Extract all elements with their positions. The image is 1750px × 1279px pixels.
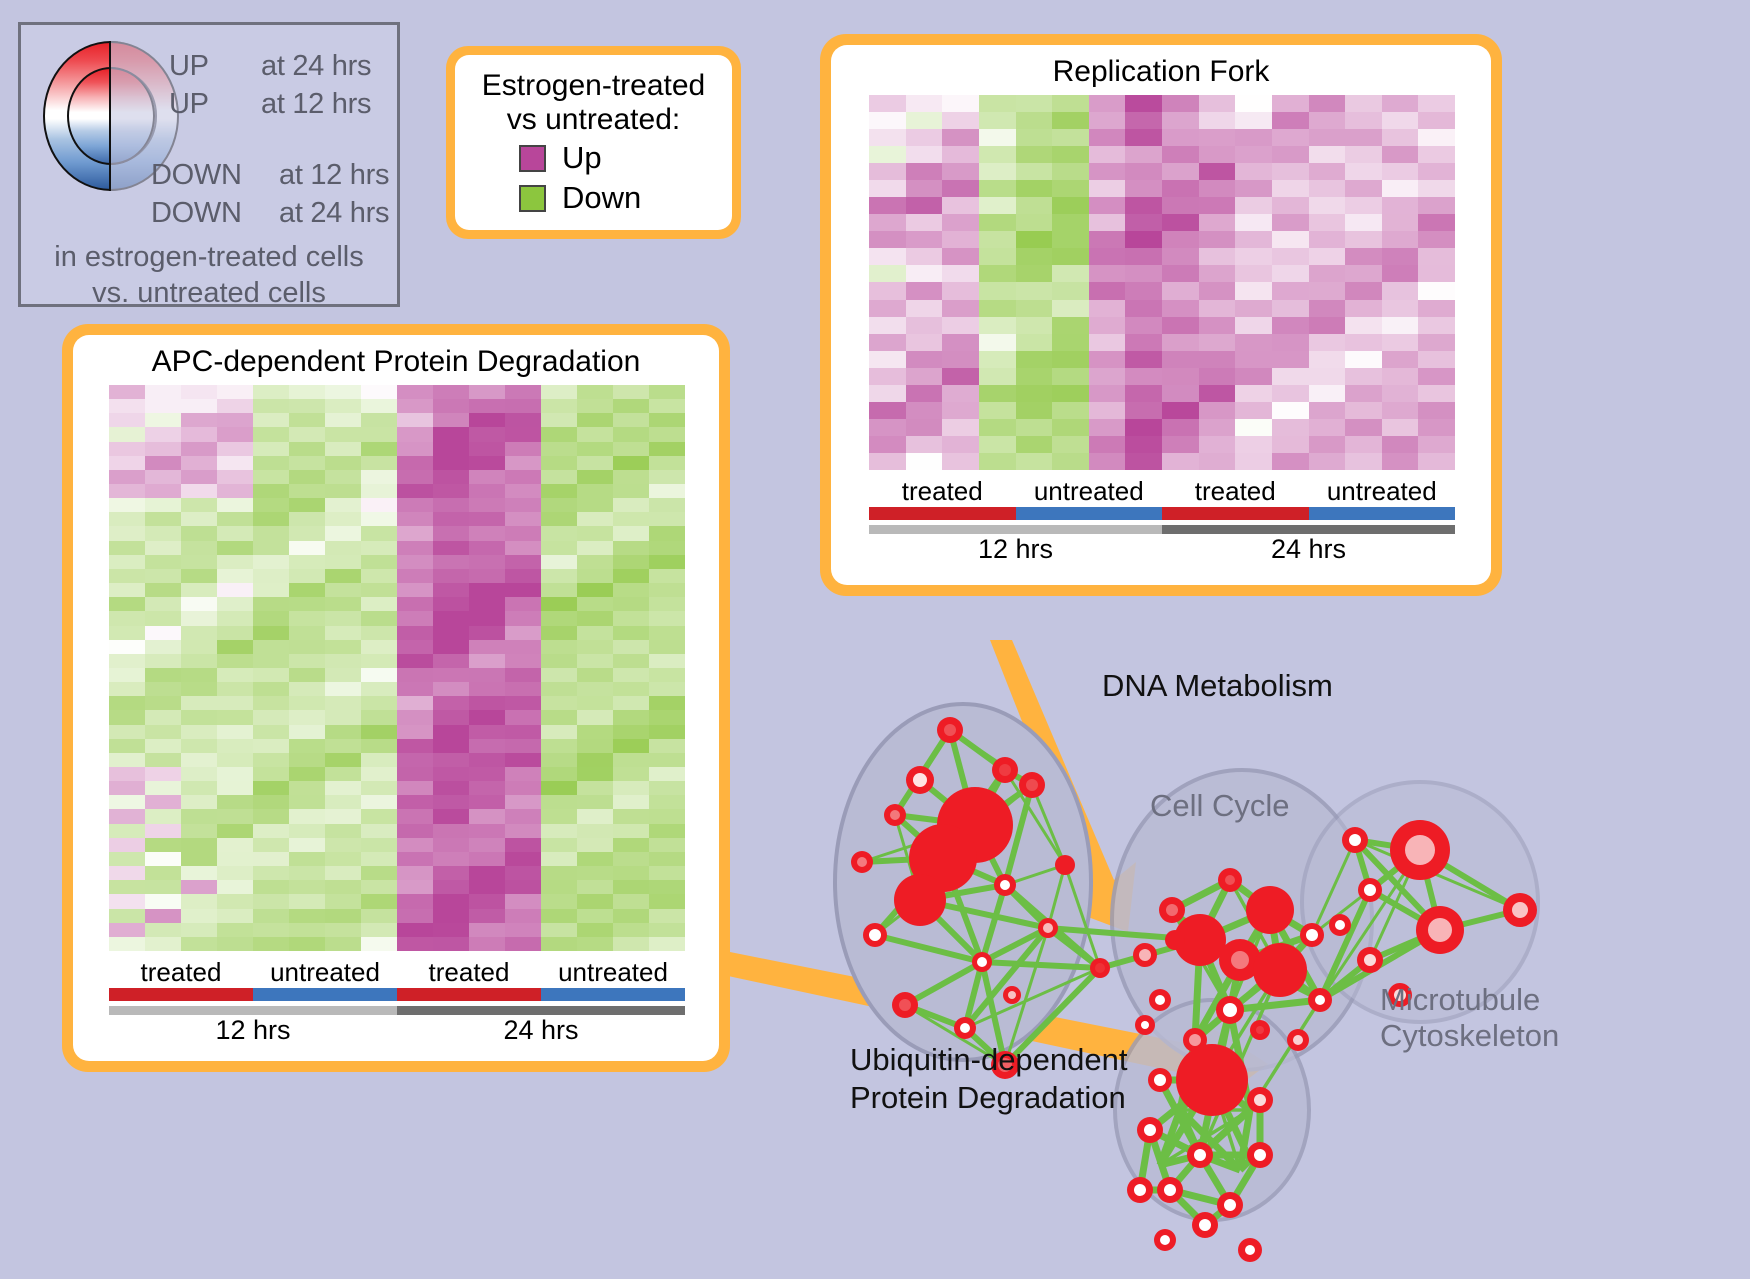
heatmap-cell xyxy=(217,399,253,413)
heatmap-cell xyxy=(906,248,943,265)
heatmap-cell xyxy=(577,937,613,951)
heatmap-cell xyxy=(649,399,685,413)
heatmap-cell xyxy=(325,852,361,866)
heatmap-cell xyxy=(433,809,469,823)
heatmap-cell xyxy=(577,781,613,795)
heatmap-cell xyxy=(325,937,361,951)
heatmap-cell xyxy=(433,555,469,569)
heatmap-cell xyxy=(253,512,289,526)
heatmap-cell xyxy=(1345,300,1382,317)
heatmap-cell xyxy=(109,795,145,809)
heatmap-cell xyxy=(1162,317,1199,334)
heatmap-cell xyxy=(109,753,145,767)
heatmap-cell xyxy=(505,781,541,795)
heatmap-cell xyxy=(253,824,289,838)
heatmap-cell xyxy=(109,824,145,838)
heatmap-cell xyxy=(1052,129,1089,146)
heatmap-cell xyxy=(253,526,289,540)
heatmap-cell xyxy=(253,866,289,880)
heatmap-cell xyxy=(397,937,433,951)
heatmap-cell xyxy=(1162,163,1199,180)
heatmap-cell xyxy=(1199,300,1236,317)
heatmap-cell xyxy=(505,413,541,427)
heatmap-cell xyxy=(145,385,181,399)
heatmap-cell xyxy=(869,197,906,214)
timepoint-color-bar xyxy=(109,1006,397,1015)
heatmap-cell xyxy=(253,541,289,555)
heatmap-cell xyxy=(1016,163,1053,180)
heatmap-cell xyxy=(1199,282,1236,299)
heatmap-cell xyxy=(613,824,649,838)
heatmap-cell xyxy=(942,180,979,197)
heatmap-cell xyxy=(541,541,577,555)
heatmap-cell xyxy=(217,795,253,809)
heatmap-cell xyxy=(1382,368,1419,385)
heatmap-cell xyxy=(469,937,505,951)
heatmap-cell xyxy=(469,880,505,894)
heatmap-cell xyxy=(253,809,289,823)
heatmap-cell xyxy=(397,809,433,823)
heatmap-cell xyxy=(361,526,397,540)
heatmap-cell xyxy=(1235,317,1272,334)
heatmap-cell xyxy=(613,668,649,682)
heatmap-cell xyxy=(649,498,685,512)
heatmap-cell xyxy=(613,654,649,668)
heatmap-cell xyxy=(942,317,979,334)
heatmap-cell xyxy=(1125,265,1162,282)
heatmap-cell xyxy=(1016,248,1053,265)
heatmap-cell xyxy=(541,725,577,739)
heatmap-cell xyxy=(1016,180,1053,197)
heatmap-cell xyxy=(613,456,649,470)
heatmap-cell xyxy=(217,484,253,498)
heatmap-cell xyxy=(1272,95,1309,112)
timepoint-color-bar xyxy=(869,525,1162,534)
heatmap-cell xyxy=(253,583,289,597)
heatmap-cell xyxy=(361,555,397,569)
heatmap-cell xyxy=(1052,368,1089,385)
heatmap-cell xyxy=(145,753,181,767)
heatmap-cell xyxy=(649,413,685,427)
apc-time-labels: 12 hrs24 hrs xyxy=(109,1015,685,1046)
heatmap-cell xyxy=(325,753,361,767)
heatmap-cell xyxy=(505,484,541,498)
heatmap-cell xyxy=(906,385,943,402)
heatmap-cell xyxy=(1235,385,1272,402)
heatmap-cell xyxy=(1089,351,1126,368)
heatmap-cell xyxy=(1016,317,1053,334)
heatmap-cell xyxy=(181,767,217,781)
heatmap-cell xyxy=(1309,282,1346,299)
heatmap-cell xyxy=(253,838,289,852)
heatmap-cell xyxy=(505,526,541,540)
heatmap-cell xyxy=(253,725,289,739)
heatmap-cell xyxy=(1235,180,1272,197)
heatmap-cell xyxy=(469,824,505,838)
condition-label: untreated xyxy=(1016,476,1163,507)
heatmap-cell xyxy=(289,555,325,569)
heatmap-cell xyxy=(325,385,361,399)
heatmap-cell xyxy=(1089,163,1126,180)
heatmap-cell xyxy=(1382,351,1419,368)
heatmap-cell xyxy=(1345,214,1382,231)
heatmap-cell xyxy=(469,385,505,399)
heatmap-cell xyxy=(181,413,217,427)
heatmap-cell xyxy=(1052,265,1089,282)
heatmap-cell xyxy=(613,739,649,753)
heatmap-cell xyxy=(289,767,325,781)
wheel-row-3-time: at 24 hrs xyxy=(279,197,389,230)
heatmap-cell xyxy=(289,512,325,526)
heatmap-cell xyxy=(1272,214,1309,231)
heatmap-cell xyxy=(649,385,685,399)
heatmap-cell xyxy=(145,909,181,923)
heatmap-cell xyxy=(433,442,469,456)
heatmap-cell xyxy=(469,640,505,654)
heatmap-cell xyxy=(181,442,217,456)
heatmap-cell xyxy=(1309,265,1346,282)
apc-condition-bar xyxy=(109,988,685,1001)
heatmap-cell xyxy=(1052,248,1089,265)
heatmap-cell xyxy=(649,753,685,767)
condition-label: untreated xyxy=(253,957,397,988)
heatmap-cell xyxy=(1272,265,1309,282)
heatmap-cell xyxy=(541,626,577,640)
heatmap-cell xyxy=(1089,231,1126,248)
heatmap-cell xyxy=(145,668,181,682)
heatmap-cell xyxy=(325,541,361,555)
heatmap-cell xyxy=(649,866,685,880)
heatmap-cell xyxy=(906,282,943,299)
heatmap-cell xyxy=(1052,402,1089,419)
heatmap-cell xyxy=(541,753,577,767)
heatmap-cell xyxy=(1382,282,1419,299)
heatmap-cell xyxy=(613,937,649,951)
heatmap-cell xyxy=(1382,317,1419,334)
heatmap-cell xyxy=(289,470,325,484)
heatmap-cell xyxy=(869,317,906,334)
heatmap-cell xyxy=(289,526,325,540)
heatmap-cell xyxy=(217,512,253,526)
timepoint-label: 12 hrs xyxy=(109,1015,397,1046)
heatmap-cell xyxy=(505,767,541,781)
heatmap-cell xyxy=(942,95,979,112)
heatmap-cell xyxy=(1272,248,1309,265)
heatmap-cell xyxy=(469,838,505,852)
heatmap-cell xyxy=(649,682,685,696)
heatmap-cell xyxy=(1199,95,1236,112)
heatmap-cell xyxy=(1382,300,1419,317)
heatmap-cell xyxy=(181,555,217,569)
heatmap-cell xyxy=(109,413,145,427)
heatmap-cell xyxy=(906,402,943,419)
heatmap-cell xyxy=(361,682,397,696)
heatmap-cell xyxy=(253,937,289,951)
heatmap-cell xyxy=(109,909,145,923)
heatmap-cell xyxy=(649,640,685,654)
heatmap-cell xyxy=(289,739,325,753)
heatmap-cell xyxy=(217,710,253,724)
heatmap-cell xyxy=(109,512,145,526)
heatmap-cell xyxy=(505,541,541,555)
heatmap-cell xyxy=(217,923,253,937)
heatmap-cell xyxy=(361,937,397,951)
heatmap-cell xyxy=(1089,197,1126,214)
heatmap-cell xyxy=(217,555,253,569)
heatmap-cell xyxy=(109,739,145,753)
heatmap-cell xyxy=(869,282,906,299)
heatmap-cell xyxy=(289,640,325,654)
heatmap-cell xyxy=(1345,112,1382,129)
heatmap-cell xyxy=(469,866,505,880)
heatmap-cell xyxy=(979,282,1016,299)
heatmap-cell xyxy=(577,498,613,512)
heatmap-cell xyxy=(1345,146,1382,163)
heatmap-cell xyxy=(979,351,1016,368)
replication-fork-time-labels: 12 hrs24 hrs xyxy=(869,534,1455,565)
heatmap-cell xyxy=(1162,436,1199,453)
heatmap-cell xyxy=(1272,300,1309,317)
heatmap-cell xyxy=(1125,248,1162,265)
heatmap-cell xyxy=(1125,436,1162,453)
heatmap-cell xyxy=(541,526,577,540)
heatmap-cell xyxy=(1016,112,1053,129)
heatmap-cell xyxy=(613,852,649,866)
heatmap-cell xyxy=(253,909,289,923)
heatmap-cell xyxy=(325,838,361,852)
heatmap-cell xyxy=(433,824,469,838)
heatmap-cell xyxy=(361,866,397,880)
heatmap-cell xyxy=(1309,317,1346,334)
heatmap-cell xyxy=(289,725,325,739)
heatmap-cell xyxy=(181,456,217,470)
expression-wheel-legend: UP at 24 hrs UP at 12 hrs DOWN at 12 hrs… xyxy=(18,22,400,307)
heatmap-cell xyxy=(361,498,397,512)
heatmap-cell xyxy=(217,838,253,852)
heatmap-cell xyxy=(253,923,289,937)
heatmap-cell xyxy=(145,838,181,852)
heatmap-cell xyxy=(1162,453,1199,470)
heatmap-cell xyxy=(906,197,943,214)
heatmap-cell xyxy=(1418,265,1455,282)
heatmap-cell xyxy=(942,265,979,282)
heatmap-cell xyxy=(1345,317,1382,334)
heatmap-cell xyxy=(109,781,145,795)
heatmap-cell xyxy=(1089,180,1126,197)
heatmap-cell xyxy=(505,470,541,484)
heatmap-cell xyxy=(397,795,433,809)
heatmap-cell xyxy=(289,824,325,838)
heatmap-cell xyxy=(361,583,397,597)
heatmap-cell xyxy=(1345,248,1382,265)
label-microtubule-line1: Microtubule xyxy=(1380,982,1540,1018)
heatmap-cell xyxy=(361,824,397,838)
heatmap-cell xyxy=(613,385,649,399)
heatmap-cell xyxy=(541,640,577,654)
heatmap-cell xyxy=(577,427,613,441)
heatmap-cell xyxy=(145,526,181,540)
heatmap-cell xyxy=(109,880,145,894)
heatmap-cell xyxy=(577,541,613,555)
heatmap-cell xyxy=(577,696,613,710)
heatmap-cell xyxy=(109,498,145,512)
heatmap-cell xyxy=(1309,334,1346,351)
heatmap-cell xyxy=(1016,334,1053,351)
heatmap-cell xyxy=(1052,334,1089,351)
heatmap-cell xyxy=(1089,436,1126,453)
heatmap-cell xyxy=(1052,180,1089,197)
heatmap-cell xyxy=(217,696,253,710)
heatmap-cell xyxy=(1272,351,1309,368)
heatmap-cell xyxy=(325,512,361,526)
heatmap-cell xyxy=(1199,317,1236,334)
heatmap-cell xyxy=(505,725,541,739)
heatmap-cell xyxy=(181,597,217,611)
heatmap-cell xyxy=(289,880,325,894)
heatmap-cell xyxy=(869,95,906,112)
heatmap-cell xyxy=(869,146,906,163)
heatmap-cell xyxy=(217,909,253,923)
heatmap-cell xyxy=(613,442,649,456)
heatmap-cell xyxy=(1235,453,1272,470)
heatmap-cell xyxy=(325,739,361,753)
heatmap-cell xyxy=(942,112,979,129)
heatmap-cell xyxy=(613,880,649,894)
heatmap-cell xyxy=(433,696,469,710)
heatmap-cell xyxy=(253,456,289,470)
heatmap-cell xyxy=(217,427,253,441)
heatmap-cell xyxy=(397,413,433,427)
heatmap-cell xyxy=(1235,419,1272,436)
heatmap-cell xyxy=(1016,385,1053,402)
heatmap-cell xyxy=(869,112,906,129)
heatmap-cell xyxy=(1199,453,1236,470)
heatmap-cell xyxy=(979,248,1016,265)
heatmap-cell xyxy=(145,710,181,724)
replication-fork-heatmap xyxy=(869,95,1455,470)
apc-title: APC-dependent Protein Degradation xyxy=(73,335,719,379)
heatmap-cell xyxy=(325,484,361,498)
heatmap-cell xyxy=(1016,402,1053,419)
heatmap-cell xyxy=(361,413,397,427)
heatmap-cell xyxy=(1016,282,1053,299)
heatmap-cell xyxy=(469,442,505,456)
heatmap-cell xyxy=(289,696,325,710)
heatmap-cell xyxy=(253,781,289,795)
heatmap-cell xyxy=(253,442,289,456)
heatmap-cell xyxy=(1382,248,1419,265)
heatmap-cell xyxy=(397,512,433,526)
heatmap-cell xyxy=(469,413,505,427)
heatmap-cell xyxy=(109,809,145,823)
heatmap-cell xyxy=(1125,334,1162,351)
heatmap-cell xyxy=(325,668,361,682)
heatmap-cell xyxy=(253,484,289,498)
heatmap-cell xyxy=(1309,453,1346,470)
condition-label: untreated xyxy=(541,957,685,988)
heatmap-cell xyxy=(1199,368,1236,385)
heatmap-cell xyxy=(325,654,361,668)
heatmap-cell xyxy=(649,456,685,470)
heatmap-cell xyxy=(505,710,541,724)
heatmap-cell xyxy=(433,413,469,427)
heatmap-cell xyxy=(289,399,325,413)
heatmap-cell xyxy=(1272,197,1309,214)
heatmap-cell xyxy=(181,626,217,640)
heatmap-cell xyxy=(1016,146,1053,163)
heatmap-cell xyxy=(541,696,577,710)
heatmap-cell xyxy=(145,795,181,809)
heatmap-cell xyxy=(1089,112,1126,129)
heatmap-cell xyxy=(649,725,685,739)
heatmap-cell xyxy=(1309,163,1346,180)
heatmap-cell xyxy=(109,852,145,866)
heatmap-cell xyxy=(181,668,217,682)
condition-label: treated xyxy=(109,957,253,988)
heatmap-cell xyxy=(649,923,685,937)
heatmap-cell xyxy=(433,767,469,781)
heatmap-cell xyxy=(1162,231,1199,248)
heatmap-cell xyxy=(1418,163,1455,180)
heatmap-cell xyxy=(541,413,577,427)
heatmap-cell xyxy=(1272,163,1309,180)
heatmap-cell xyxy=(1345,197,1382,214)
heatmap-cell xyxy=(325,611,361,625)
heatmap-cell xyxy=(325,725,361,739)
heatmap-cell xyxy=(181,937,217,951)
heatmap-cell xyxy=(145,583,181,597)
heatmap-cell xyxy=(979,231,1016,248)
heatmap-cell xyxy=(361,541,397,555)
heatmap-cell xyxy=(1345,334,1382,351)
heatmap-cell xyxy=(1418,453,1455,470)
heatmap-cell xyxy=(469,795,505,809)
heatmap-cell xyxy=(577,569,613,583)
heatmap-cell xyxy=(145,413,181,427)
heatmap-cell xyxy=(1125,129,1162,146)
heatmap-cell xyxy=(469,809,505,823)
heatmap-cell xyxy=(1418,419,1455,436)
heatmap-cell xyxy=(469,767,505,781)
heatmap-cell xyxy=(1309,385,1346,402)
heatmap-cell xyxy=(1199,163,1236,180)
heatmap-cell xyxy=(979,385,1016,402)
wheel-row-1-direction: UP xyxy=(169,88,209,121)
heatmap-cell xyxy=(433,909,469,923)
heatmap-cell xyxy=(253,880,289,894)
heatmap-cell xyxy=(433,852,469,866)
heatmap-cell xyxy=(361,739,397,753)
heatmap-cell xyxy=(1016,436,1053,453)
heatmap-cell xyxy=(1418,146,1455,163)
heatmap-cell xyxy=(145,781,181,795)
heatmap-cell xyxy=(1235,282,1272,299)
heatmap-cell xyxy=(613,682,649,696)
heatmap-cell xyxy=(979,95,1016,112)
heatmap-cell xyxy=(613,498,649,512)
heatmap-cell xyxy=(541,795,577,809)
heatmap-cell xyxy=(541,710,577,724)
heatmap-cell xyxy=(361,427,397,441)
heatmap-cell xyxy=(1418,129,1455,146)
heatmap-cell xyxy=(1309,402,1346,419)
heatmap-cell xyxy=(433,470,469,484)
heatmap-cell xyxy=(253,427,289,441)
heatmap-cell xyxy=(1418,351,1455,368)
heatmap-cell xyxy=(1345,453,1382,470)
heatmap-cell xyxy=(325,795,361,809)
heatmap-cell xyxy=(1235,248,1272,265)
